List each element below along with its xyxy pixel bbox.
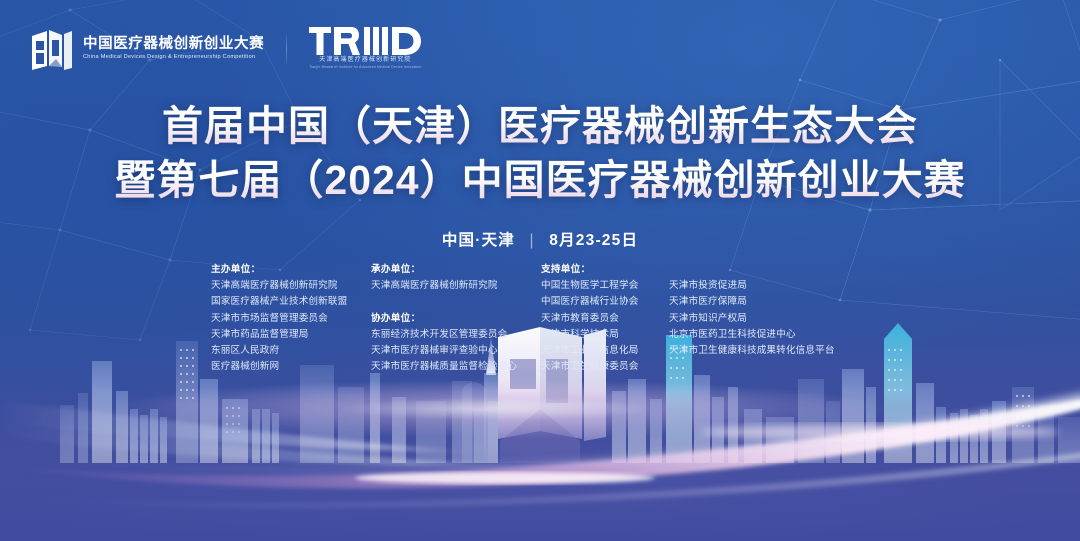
supporter-item: 天津市科学技术局 [541,327,659,343]
competition-logo[interactable]: 中国医疗器械创新创业大赛 China Medical Devices Desig… [30,26,264,71]
competition-logo-en: China Medical Devices Design & Entrepren… [83,54,264,60]
host-item: 医疗器械创新网 [211,359,371,375]
gate-monument-icon [30,26,74,71]
supporter-item: 天津市卫生健康委员会 [541,359,659,375]
conference-banner: 中国医疗器械创新创业大赛 China Medical Devices Desig… [0,0,1080,541]
triid-wordmark-icon [309,27,421,55]
supporter-item: 天津市工业和信息化局 [541,343,659,359]
undertaker-item: 天津高端医疗器械创新研究院 [371,278,541,294]
coorganizer-item: 天津市医疗器械审评查验中心 [371,343,541,359]
supporter-item: 天津市知识产权局 [669,311,869,327]
supporter-item: 天津市医疗保障局 [669,294,869,310]
host-item: 国家医疗器械产业技术创新联盟 [211,294,371,310]
institute-logo-cn: 天津高端医疗器械创新研究院 [319,57,411,64]
supporter-item: 天津市教育委员会 [541,311,659,327]
host-column: 主办单位： 天津高端医疗器械创新研究院 国家医疗器械产业技术创新联盟 天津市市场… [211,262,371,375]
supporter-item: 中国医疗器械行业协会 [541,294,659,310]
title-line-2: 暨第七届（2024）中国医疗器械创新创业大赛 [0,153,1080,207]
supporter-item: 中国生物医学工程学会 [541,278,659,294]
logo-divider [286,32,287,66]
competition-logo-cn: 中国医疗器械创新创业大赛 [83,37,264,52]
institute-logo-en: Tianjin Research Institute for Advanced … [309,66,421,70]
supporter-item: 天津市投资促进局 [669,278,869,294]
event-location: 中国·天津 [442,232,515,249]
supporter-subcolumn-a: 支持单位： 中国生物医学工程学会 中国医疗器械行业协会 天津市教育委员会 天津市… [541,262,659,375]
coorganizer-item: 天津市医疗器械质量监督检验中心 [371,359,541,375]
institute-logo[interactable]: 天津高端医疗器械创新研究院 Tianjin Research Institute… [309,27,421,70]
host-item: 天津市药品监督管理局 [211,327,371,343]
supporter-item: 北京市医药卫生科技促进中心 [669,327,869,343]
supporter-column: 支持单位： 中国生物医学工程学会 中国医疗器械行业协会 天津市教育委员会 天津市… [541,262,869,375]
main-title-block: 首届中国（天津）医疗器械创新生态大会 暨第七届（2024）中国医疗器械创新创业大… [0,99,1080,207]
host-item: 东丽区人民政府 [211,343,371,359]
event-meta: 中国·天津 | 8月23-25日 [0,228,1080,250]
host-heading: 主办单位： [211,262,371,278]
header-logos: 中国医疗器械创新创业大赛 China Medical Devices Desig… [30,26,422,71]
meta-separator: | [530,232,535,250]
supporter-subcolumn-b: 天津市投资促进局 天津市医疗保障局 天津市知识产权局 北京市医药卫生科技促进中心… [669,262,869,375]
column-spacer [669,262,869,278]
host-item: 天津高端医疗器械创新研究院 [211,278,371,294]
undertaker-heading: 承办单位： [371,262,541,278]
host-item: 天津市市场监督管理委员会 [211,311,371,327]
title-line-1: 首届中国（天津）医疗器械创新生态大会 [0,99,1080,153]
event-date: 8月23-25日 [549,232,638,249]
coorganizer-heading: 协办单位： [371,311,541,327]
coorganizer-item: 东丽经济技术开发区管理委员会 [371,327,541,343]
column-spacer [371,294,541,310]
undertaker-coorganizer-column: 承办单位： 天津高端医疗器械创新研究院 协办单位： 东丽经济技术开发区管理委员会… [371,262,541,375]
bottom-fade [0,391,1080,541]
supporter-item: 天津市卫生健康科技成果转化信息平台 [669,343,869,359]
supporter-heading: 支持单位： [541,262,659,278]
organizer-columns: 主办单位： 天津高端医疗器械创新研究院 国家医疗器械产业技术创新联盟 天津市市场… [0,262,1080,375]
